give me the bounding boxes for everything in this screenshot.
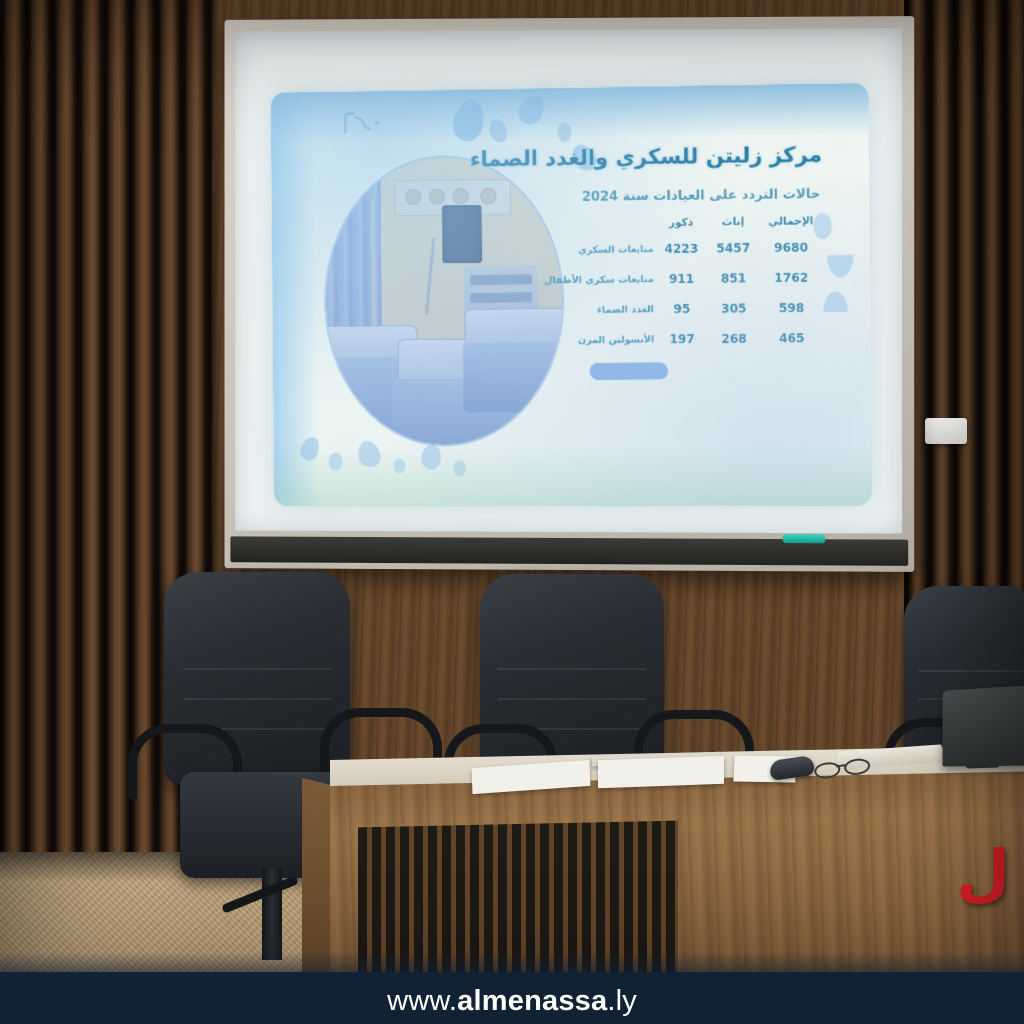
center-logo-icon xyxy=(337,109,388,140)
cell-total: 9680 xyxy=(759,232,823,263)
decorative-blob-icon xyxy=(394,458,406,473)
monitor[interactable] xyxy=(943,685,1024,766)
watermark-brand: almenassa xyxy=(457,985,607,1017)
decorative-blob-icon xyxy=(453,460,466,476)
decorative-blob-icon xyxy=(557,122,571,142)
table-body: 968054574223متابعات السكري1762851911متاب… xyxy=(535,232,824,355)
col-header-females: إناث xyxy=(707,216,759,234)
col-header-total: الإجمالي xyxy=(759,215,823,233)
cell-females: 268 xyxy=(708,324,760,355)
watermark-text: www.almenassa.ly xyxy=(0,985,1024,1018)
teal-marker-icon[interactable] xyxy=(783,534,825,543)
slide-title: مركز زليتن للسكري والغدد الصماء xyxy=(470,142,822,171)
cell-total: 598 xyxy=(760,293,824,324)
decorative-blob-icon xyxy=(823,292,848,312)
slide-decorative-pill xyxy=(590,362,668,379)
decorative-blob-icon xyxy=(329,453,343,471)
hospital-ward-photo xyxy=(325,156,563,445)
photo-projection-tint xyxy=(325,156,563,445)
col-header-males: ذكور xyxy=(655,216,707,234)
decorative-blob-icon xyxy=(827,255,854,277)
cell-label: الأنسولين المرن xyxy=(536,324,657,355)
watermark-suffix: .ly xyxy=(607,985,637,1017)
projected-slide: مركز زليتن للسكري والغدد الصماء حالات ال… xyxy=(271,83,872,506)
cell-females: 851 xyxy=(707,263,759,294)
table-row: 465268197الأنسولين المرن xyxy=(536,323,824,355)
cell-males: 4223 xyxy=(655,233,707,264)
cell-label: الغدد الصماء xyxy=(535,294,656,325)
table-row: 1762851911متابعات سكري الأطفال xyxy=(535,262,823,295)
conference-room-scene: مركز زليتن للسكري والغدد الصماء حالات ال… xyxy=(0,0,1024,1024)
projection-whiteboard[interactable]: مركز زليتن للسكري والغدد الصماء حالات ال… xyxy=(224,16,914,572)
clinic-visits-table: الإجمالي إناث ذكور 968054574223متابعات ا… xyxy=(535,215,824,355)
table-row: 59830595الغدد الصماء xyxy=(535,293,823,325)
table-row: 968054574223متابعات السكري xyxy=(535,232,823,265)
paper-sheet-center[interactable] xyxy=(598,756,724,788)
cell-females: 305 xyxy=(708,293,760,324)
cell-females: 5457 xyxy=(707,233,759,264)
cell-males: 197 xyxy=(656,324,708,354)
cell-label: متابعات سكري الأطفال xyxy=(535,264,656,295)
cell-total: 1762 xyxy=(759,262,823,293)
cell-label: متابعات السكري xyxy=(535,234,656,265)
wall-mounted-sensor-icon xyxy=(925,418,967,444)
desk-logo-letter: ل xyxy=(956,842,1010,904)
cell-total: 465 xyxy=(760,323,824,354)
col-header-label xyxy=(535,217,656,235)
watermark-prefix: www. xyxy=(387,985,457,1017)
cell-males: 95 xyxy=(656,294,708,325)
whiteboard-surface: مركز زليتن للسكري والغدد الصماء حالات ال… xyxy=(235,28,902,533)
slide-subtitle: حالات التردد على العيادات سنة 2024 xyxy=(582,187,821,205)
chair-base-leg xyxy=(221,875,299,913)
cell-males: 911 xyxy=(656,264,708,295)
